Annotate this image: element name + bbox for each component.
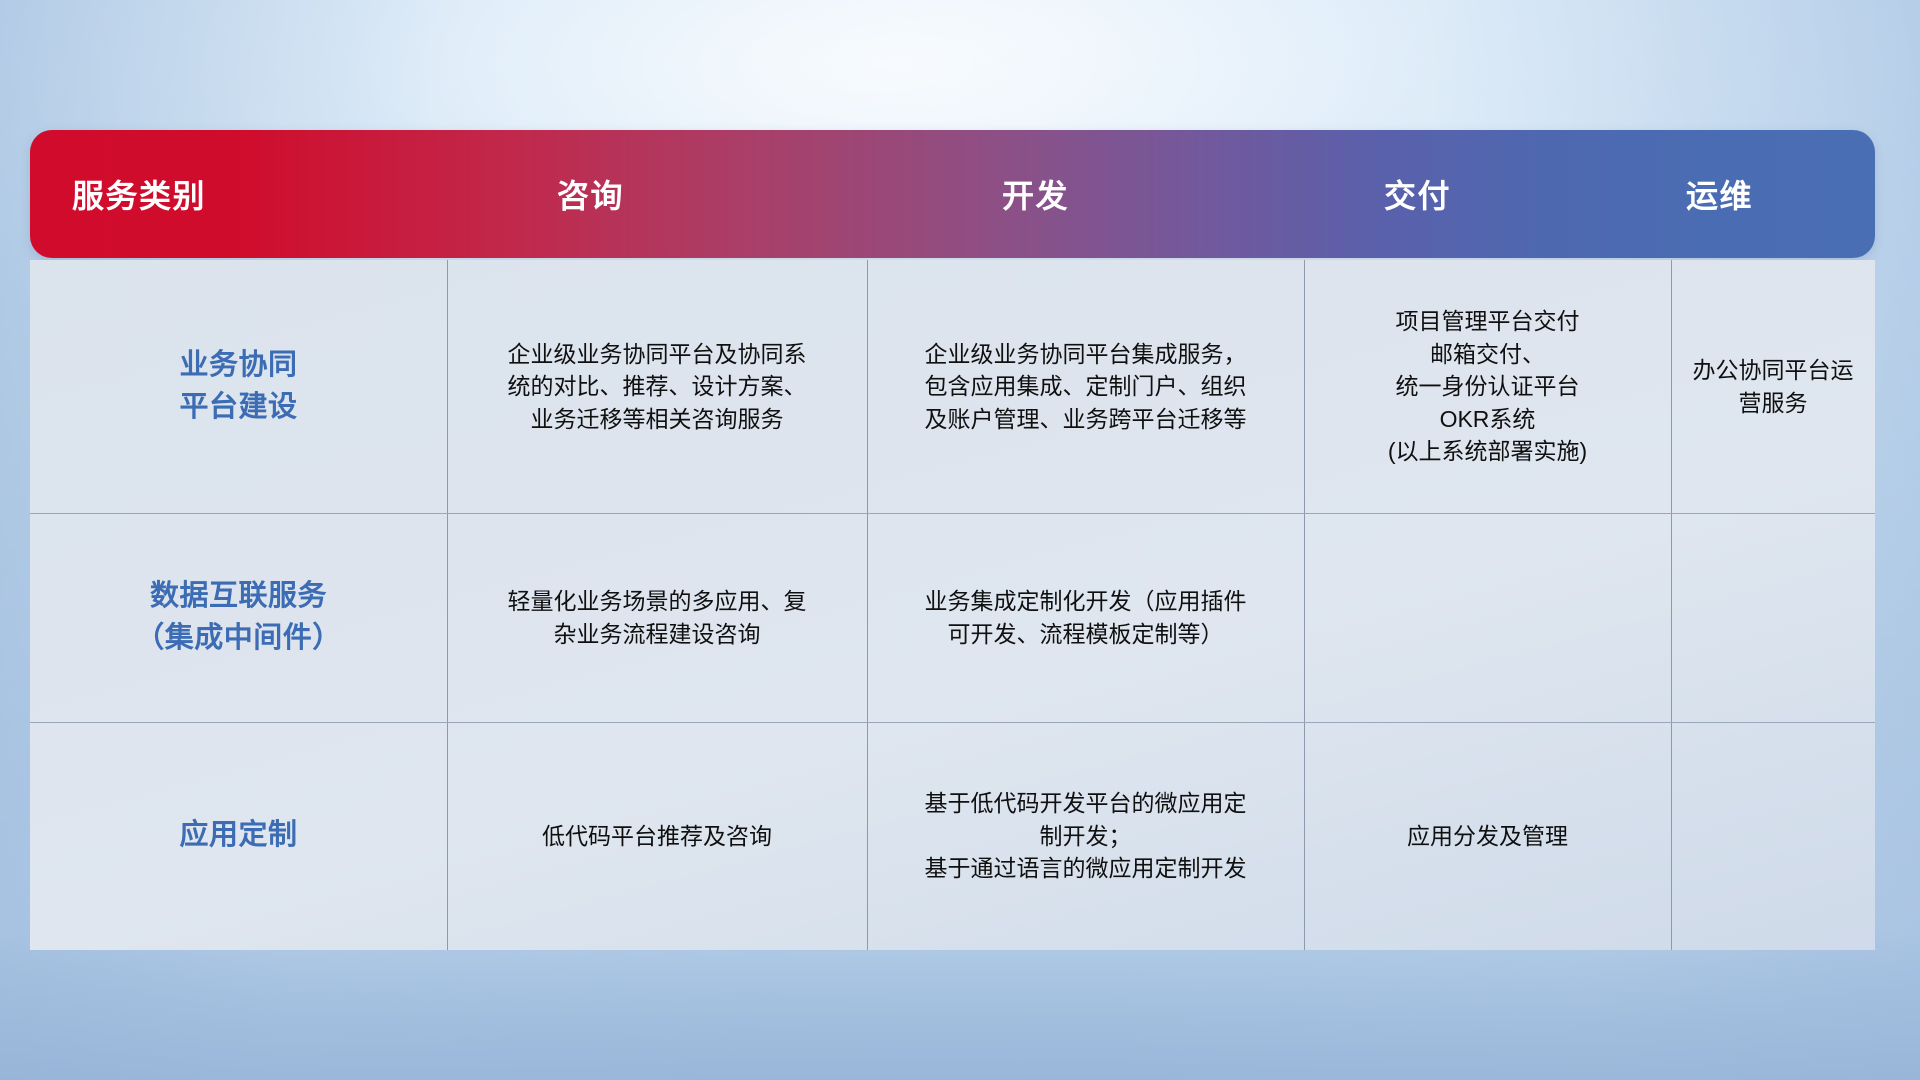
cell-category: 数据互联服务 （集成中间件） — [30, 513, 447, 722]
table-row: 业务协同 平台建设 企业级业务协同平台及协同系 统的对比、推荐、设计方案、 业务… — [30, 260, 1875, 513]
cell-consulting: 企业级业务协同平台及协同系 统的对比、推荐、设计方案、 业务迁移等相关咨询服务 — [447, 260, 867, 513]
cell-operations: 办公协同平台运营服务 — [1671, 260, 1875, 513]
table-header-row: 服务类别 咨询 开发 交付 运维 — [30, 130, 1875, 258]
cell-consulting: 低代码平台推荐及咨询 — [447, 722, 867, 950]
table-row: 应用定制 低代码平台推荐及咨询 基于低代码开发平台的微应用定 制开发； 基于通过… — [30, 722, 1875, 950]
cell-delivery — [1304, 513, 1671, 722]
cell-delivery: 应用分发及管理 — [1304, 722, 1671, 950]
cell-operations — [1671, 513, 1875, 722]
cell-delivery: 项目管理平台交付 邮箱交付、 统一身份认证平台 OKR系统 (以上系统部署实施) — [1304, 260, 1671, 513]
column-header-development: 开发 — [867, 171, 1304, 217]
service-matrix-table: 服务类别 咨询 开发 交付 运维 业务协同 平台建设 企业级业务协同平台及协同系… — [30, 130, 1875, 950]
cell-development: 企业级业务协同平台集成服务， 包含应用集成、定制门户、组织 及账户管理、业务跨平… — [867, 260, 1304, 513]
table-body: 业务协同 平台建设 企业级业务协同平台及协同系 统的对比、推荐、设计方案、 业务… — [30, 260, 1875, 950]
column-header-delivery: 交付 — [1304, 171, 1671, 217]
cell-operations — [1671, 722, 1875, 950]
cell-category: 应用定制 — [30, 722, 447, 950]
cell-development: 业务集成定制化开发（应用插件 可开发、流程模板定制等） — [867, 513, 1304, 722]
column-header-service-category: 服务类别 — [30, 171, 447, 217]
cell-category: 业务协同 平台建设 — [30, 260, 447, 513]
column-header-operations: 运维 — [1671, 171, 1875, 217]
cell-development: 基于低代码开发平台的微应用定 制开发； 基于通过语言的微应用定制开发 — [867, 722, 1304, 950]
table-row: 数据互联服务 （集成中间件） 轻量化业务场景的多应用、复 杂业务流程建设咨询 业… — [30, 513, 1875, 722]
cell-consulting: 轻量化业务场景的多应用、复 杂业务流程建设咨询 — [447, 513, 867, 722]
column-header-consulting: 咨询 — [447, 171, 867, 217]
